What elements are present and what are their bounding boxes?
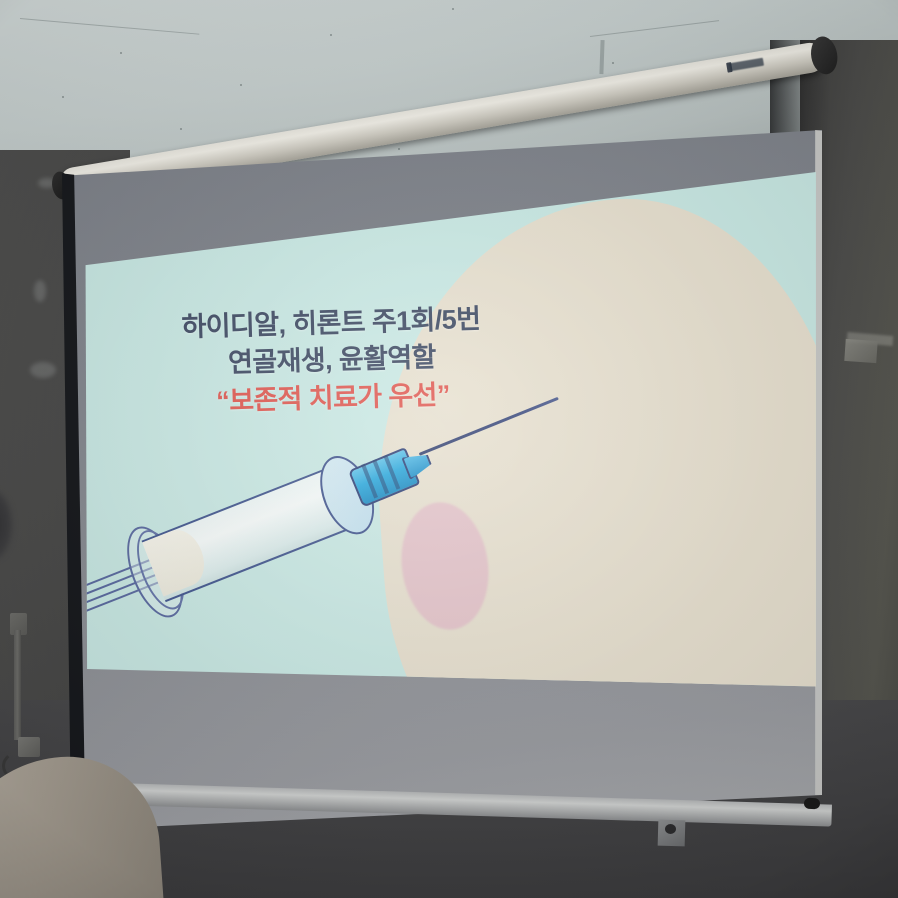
wall-conduit-pipe [14,630,21,740]
projection-screen[interactable]: 하이디알, 히론트 주1회/5번 연골재생, 윤활역할 “보존적 치료가 우선” [62,130,822,830]
wall-plate [844,339,877,363]
screen-hook-hole [665,824,676,834]
photo-scene: 하이디알, 히론트 주1회/5번 연골재생, 윤활역할 “보존적 치료가 우선” [0,0,898,898]
screen-bar-end-cap [804,798,820,810]
slide-text-block: 하이디알, 히론트 주1회/5번 연골재생, 윤활역할 “보존적 치료가 우선” [121,300,544,422]
